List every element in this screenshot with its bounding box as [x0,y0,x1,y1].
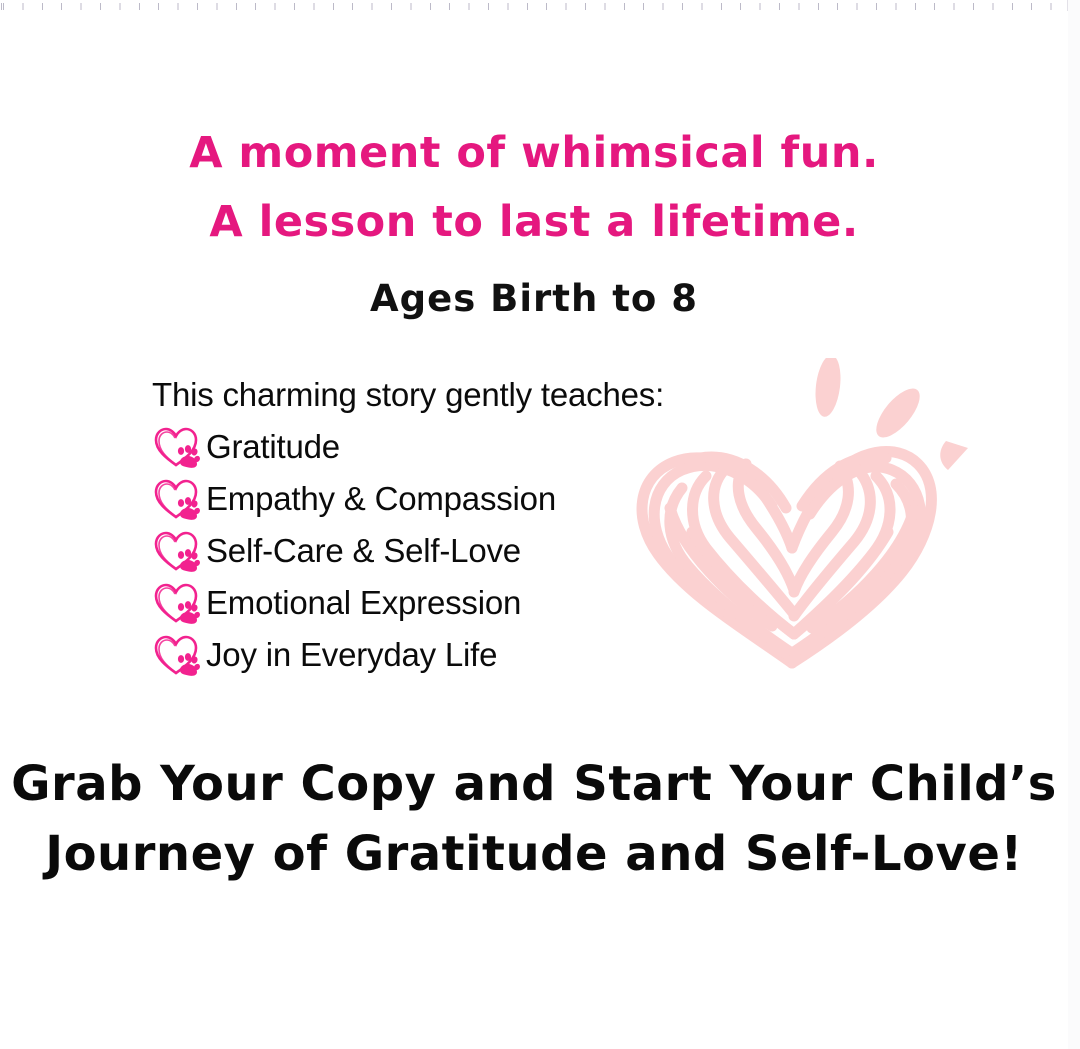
heart-paw-icon [152,425,202,469]
list-item-label: Joy in Everyday Life [206,636,497,674]
list-item-label: Empathy & Compassion [206,480,556,518]
heart-paw-icon [152,581,202,625]
headline-line-2: A lesson to last a lifetime. [0,188,1068,257]
list-item-label: Self-Care & Self-Love [206,532,521,570]
ruler-tick-marks [0,0,1069,10]
teaches-list: Gratitude [152,421,792,681]
teaches-intro: This charming story gently teaches: [152,369,792,421]
heart-paw-icon [152,529,202,573]
list-item: Empathy & Compassion [152,473,792,525]
list-item: Joy in Everyday Life [152,629,792,681]
call-to-action: Grab Your Copy and Start Your Child’s Jo… [0,749,1068,889]
list-item: Emotional Expression [152,577,792,629]
headline: A moment of whimsical fun. A lesson to l… [0,119,1068,257]
heart-paw-icon [152,477,202,521]
list-item-label: Emotional Expression [206,584,521,622]
cta-line-1: Grab Your Copy and Start Your Child’s [0,749,1068,819]
heart-paw-icon [152,633,202,677]
page-right-gutter [1067,0,1080,1049]
list-item: Gratitude [152,421,792,473]
cta-line-2: Journey of Gratitude and Self-Love! [0,819,1068,889]
list-item-label: Gratitude [206,428,340,466]
age-range-subtitle: Ages Birth to 8 [0,269,1068,329]
document-editor: A moment of whimsical fun. A lesson to l… [0,0,1080,1049]
teaches-block: This charming story gently teaches: [152,369,792,681]
page-canvas: A moment of whimsical fun. A lesson to l… [0,11,1068,1049]
headline-line-1: A moment of whimsical fun. [0,119,1068,188]
document-page[interactable]: A moment of whimsical fun. A lesson to l… [0,11,1068,1049]
list-item: Self-Care & Self-Love [152,525,792,577]
